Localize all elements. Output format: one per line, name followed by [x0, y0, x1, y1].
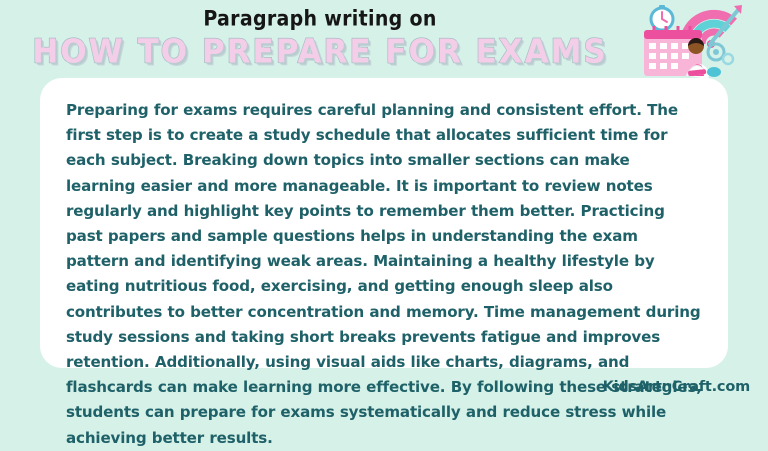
page-header: Paragraph writing on HOW TO PREPARE FOR … [0, 0, 768, 80]
header-text-block: Paragraph writing on HOW TO PREPARE FOR … [0, 4, 640, 70]
site-brand: KidsArtnCraft.com [603, 379, 750, 395]
page-title: HOW TO PREPARE FOR EXAMS [0, 32, 640, 72]
gear-icon [708, 44, 733, 64]
paragraph-card: Preparing for exams requires careful pla… [40, 78, 728, 368]
header-kicker: Paragraph writing on [0, 4, 640, 33]
study-planning-illustration [638, 2, 750, 82]
